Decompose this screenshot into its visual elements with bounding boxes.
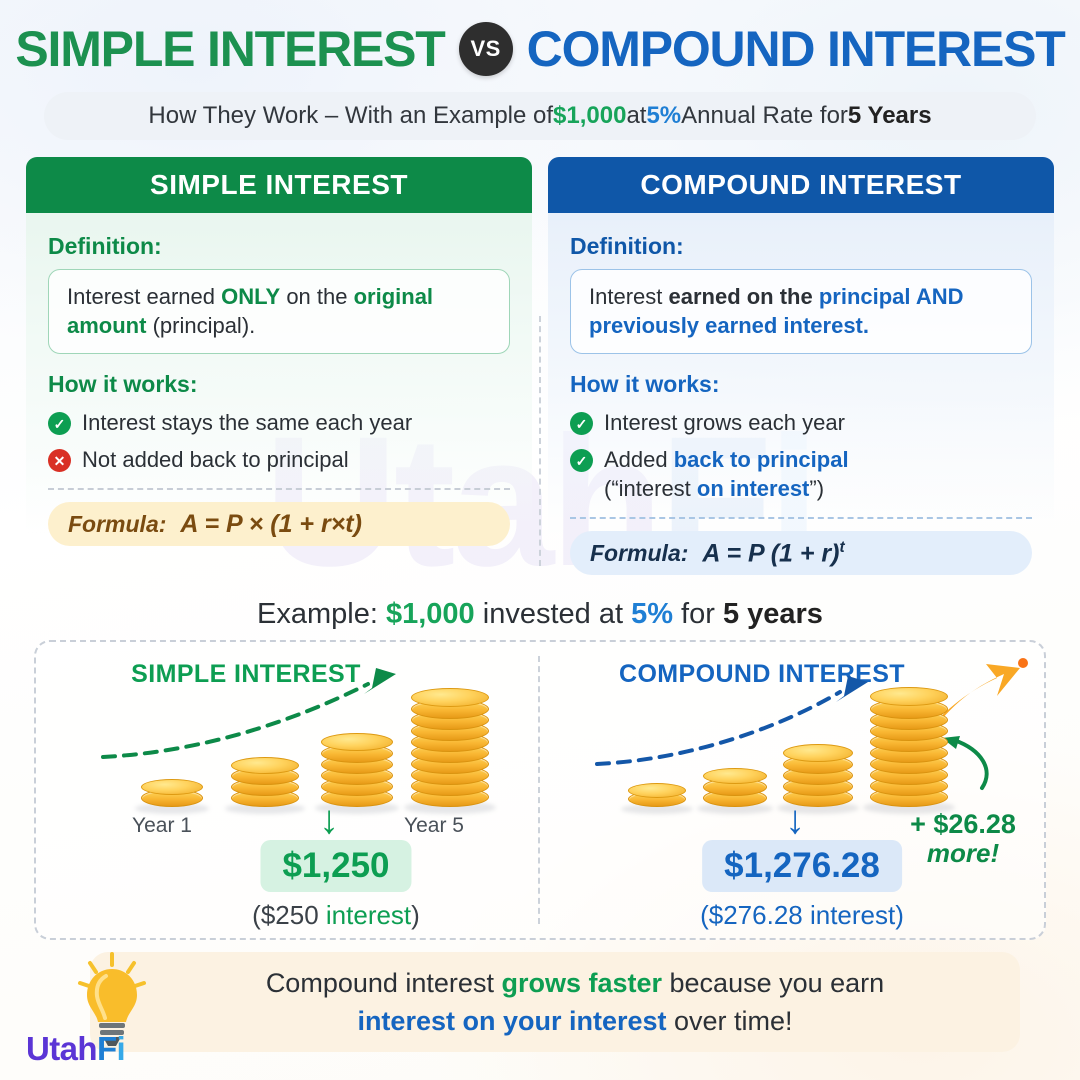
example-text-3: for xyxy=(673,598,723,630)
infographic-root: UtahFi SIMPLE INTEREST VS COMPOUND INTER… xyxy=(0,0,1080,1080)
footer-interest-on-interest: interest on your interest xyxy=(357,1006,666,1036)
footer-grows-faster: grows faster xyxy=(501,968,662,998)
cross-icon: ✕ xyxy=(48,449,71,472)
example-years: 5 years xyxy=(723,598,823,630)
simple-sub-post: ) xyxy=(411,900,420,930)
subtitle-bar: How They Work – With an Example of $1,00… xyxy=(44,92,1036,140)
chart-simple-down-arrow: ↓ xyxy=(319,800,339,840)
compound-bullet-2-line2-pre: (“interest xyxy=(604,476,697,501)
chart-compound-interest-note: ($276.28 interest) xyxy=(700,900,904,931)
panel-simple-interest: SIMPLE INTEREST Definition: Interest ear… xyxy=(26,157,532,587)
subtitle-text-3: Annual Rate for xyxy=(681,102,848,130)
difference-word: more! xyxy=(888,839,1038,867)
example-amount: $1,000 xyxy=(386,598,475,630)
check-icon: ✓ xyxy=(570,412,593,435)
compound-divider xyxy=(570,517,1032,519)
panel-compound-header: COMPOUND INTEREST xyxy=(548,157,1054,213)
chart-compound-interest: COMPOUND INTEREST xyxy=(540,642,1044,938)
simple-def-t2: on the xyxy=(280,284,353,309)
subtitle-rate: 5% xyxy=(646,102,681,130)
footer-t2: because you earn xyxy=(662,968,884,998)
simple-def-only: ONLY xyxy=(221,284,280,309)
coin-stack-year5 xyxy=(870,683,948,807)
compound-coin-stacks xyxy=(540,697,1044,807)
footer-t1: Compound interest xyxy=(266,968,502,998)
brand-logo: UtahFi xyxy=(26,1030,125,1068)
page-title: SIMPLE INTEREST VS COMPOUND INTEREST xyxy=(0,20,1080,78)
chart-simple-interest-note: ($250 interest) xyxy=(252,900,420,931)
coin-stack-year2 xyxy=(231,761,299,807)
subtitle-years: 5 Years xyxy=(848,102,932,130)
compound-difference-badge: + $26.28 more! xyxy=(888,810,1038,867)
coin-stack-year3 xyxy=(321,735,393,807)
subtitle-text-1: How They Work – With an Example of xyxy=(148,102,553,130)
simple-how-label: How it works: xyxy=(48,371,510,398)
panel-simple-header: SIMPLE INTEREST xyxy=(26,157,532,213)
compound-bullet-2-pre: Added xyxy=(604,447,674,472)
coin-stack-year5 xyxy=(411,685,489,807)
coin-stack-year1 xyxy=(141,783,203,807)
compound-bullet-2-wrap: Added back to principal (“interest on in… xyxy=(604,445,849,503)
footer-callout: Compound interest grows faster because y… xyxy=(90,952,1020,1052)
simple-sub-hl: interest xyxy=(326,900,411,930)
compound-formula-base: A = P (1 + r) xyxy=(702,539,839,567)
panel-compound-body: Definition: Interest earned on the princ… xyxy=(548,213,1054,587)
panels-vertical-divider xyxy=(539,316,541,566)
compound-def-t1: Interest xyxy=(589,284,668,309)
example-rate: 5% xyxy=(631,598,673,630)
footer-text: Compound interest grows faster because y… xyxy=(226,964,884,1041)
title-simple-interest: SIMPLE INTEREST xyxy=(15,20,444,78)
chart-simple-year1-label: Year 1 xyxy=(132,814,192,838)
compound-how-label: How it works: xyxy=(570,371,1032,398)
vs-badge: VS xyxy=(459,22,513,76)
compound-formula-expression: A = P (1 + r)t xyxy=(702,539,844,568)
simple-formula-label: Formula: xyxy=(68,511,166,538)
example-heading: Example: $1,000 invested at 5% for 5 yea… xyxy=(0,598,1080,631)
list-item: ✓ Interest stays the same each year xyxy=(48,408,510,437)
compound-bullet-2-line2-hl: on interest xyxy=(697,476,809,501)
simple-definition-label: Definition: xyxy=(48,233,510,260)
list-item: ✓ Added back to principal (“interest on … xyxy=(570,445,1032,503)
title-compound-interest: COMPOUND INTEREST xyxy=(527,20,1065,78)
simple-coin-stacks xyxy=(36,697,540,807)
chart-compound-down-arrow: ↓ xyxy=(785,800,805,840)
compound-bullet-2-hl: back to principal xyxy=(674,447,849,472)
simple-bullet-list: ✓ Interest stays the same each year ✕ No… xyxy=(48,408,510,474)
compound-def-earned: earned on the xyxy=(668,284,818,309)
logo-i: i xyxy=(117,1030,126,1067)
coin-stack-year3 xyxy=(783,739,853,807)
list-item: ✓ Interest grows each year xyxy=(570,408,1032,437)
check-icon: ✓ xyxy=(48,412,71,435)
coin-stack-year1 xyxy=(628,789,686,807)
compound-bullet-1-text: Interest grows each year xyxy=(604,408,845,437)
compound-formula-exponent: t xyxy=(839,539,844,556)
compound-definition-label: Definition: xyxy=(570,233,1032,260)
subtitle-text-2: at xyxy=(626,102,646,130)
panel-simple-body: Definition: Interest earned ONLY on the … xyxy=(26,213,532,587)
simple-def-t1: Interest earned xyxy=(67,284,221,309)
difference-amount: + $26.28 xyxy=(888,810,1038,839)
compound-formula-label: Formula: xyxy=(590,540,688,567)
logo-utah: Utah xyxy=(26,1030,97,1067)
compound-formula-pill: Formula: A = P (1 + r)t xyxy=(570,531,1032,575)
simple-sub-pre: ($250 xyxy=(252,900,326,930)
simple-def-t3: (principal). xyxy=(146,313,255,338)
simple-bullet-1-text: Interest stays the same each year xyxy=(82,408,412,437)
compound-bullet-list: ✓ Interest grows each year ✓ Added back … xyxy=(570,408,1032,503)
subtitle-amount: $1,000 xyxy=(553,102,626,130)
list-item: ✕ Not added back to principal xyxy=(48,445,510,474)
logo-f: F xyxy=(97,1030,117,1067)
compound-bullet-2-line2-post: ”) xyxy=(809,476,824,501)
chart-simple-total: $1,250 xyxy=(260,840,411,892)
simple-divider xyxy=(48,488,510,490)
simple-formula-expression: A = P × (1 + r×t) xyxy=(180,510,362,539)
example-text-2: invested at xyxy=(475,598,631,630)
chart-simple-year5-label: Year 5 xyxy=(404,814,464,838)
chart-simple-interest: SIMPLE INTEREST xyxy=(36,642,540,938)
coin-stack-year2 xyxy=(703,767,767,807)
compound-definition-box: Interest earned on the principal AND pre… xyxy=(570,269,1032,354)
check-icon: ✓ xyxy=(570,449,593,472)
example-chart-box: SIMPLE INTEREST xyxy=(34,640,1046,940)
simple-formula-pill: Formula: A = P × (1 + r×t) xyxy=(48,502,510,546)
footer-t3: over time! xyxy=(667,1006,793,1036)
panel-compound-interest: COMPOUND INTEREST Definition: Interest e… xyxy=(548,157,1054,587)
simple-definition-box: Interest earned ONLY on the original amo… xyxy=(48,269,510,354)
chart-compound-total: $1,276.28 xyxy=(702,840,902,892)
simple-bullet-2-text: Not added back to principal xyxy=(82,445,349,474)
example-text-1: Example: xyxy=(257,598,386,630)
